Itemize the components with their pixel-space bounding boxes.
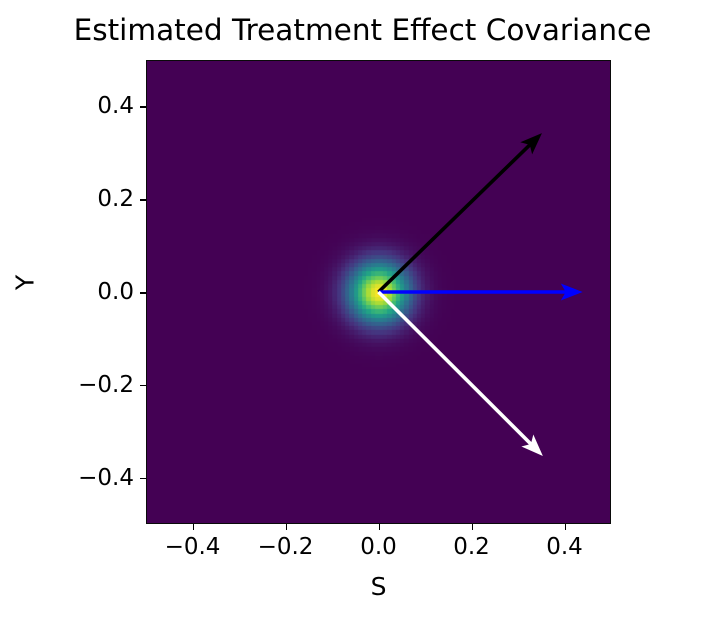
x-tick-mark — [193, 524, 195, 530]
x-tick-label: 0.4 — [546, 534, 583, 560]
figure-canvas: Estimated Treatment Effect Covariance −0… — [0, 0, 725, 631]
x-axis-label: S — [146, 572, 611, 601]
plot-area — [146, 60, 611, 524]
y-tick-label: 0.0 — [97, 279, 134, 305]
eigenvector-arrow-layer — [147, 61, 610, 523]
y-tick-label: −0.4 — [78, 465, 134, 491]
page-title: Estimated Treatment Effect Covariance — [0, 14, 725, 46]
x-tick-mark — [286, 524, 288, 530]
y-tick-label: −0.2 — [78, 372, 134, 398]
eigenvector-arrow-1-shaft — [379, 144, 531, 292]
y-axis-label: Y — [11, 243, 40, 323]
x-tick-mark — [565, 524, 567, 530]
y-tick-mark — [140, 292, 146, 294]
y-tick-label: 0.4 — [97, 93, 134, 119]
y-tick-mark — [140, 478, 146, 480]
y-tick-mark — [140, 106, 146, 108]
x-tick-mark — [379, 524, 381, 530]
x-tick-label: 0.0 — [360, 534, 397, 560]
x-tick-mark — [472, 524, 474, 530]
y-tick-label: 0.2 — [97, 186, 134, 212]
x-tick-label: −0.2 — [258, 534, 314, 560]
x-tick-label: 0.2 — [453, 534, 490, 560]
y-tick-mark — [140, 385, 146, 387]
y-tick-mark — [140, 199, 146, 201]
eigenvector-arrow-3-shaft — [379, 292, 532, 445]
x-tick-label: −0.4 — [165, 534, 221, 560]
